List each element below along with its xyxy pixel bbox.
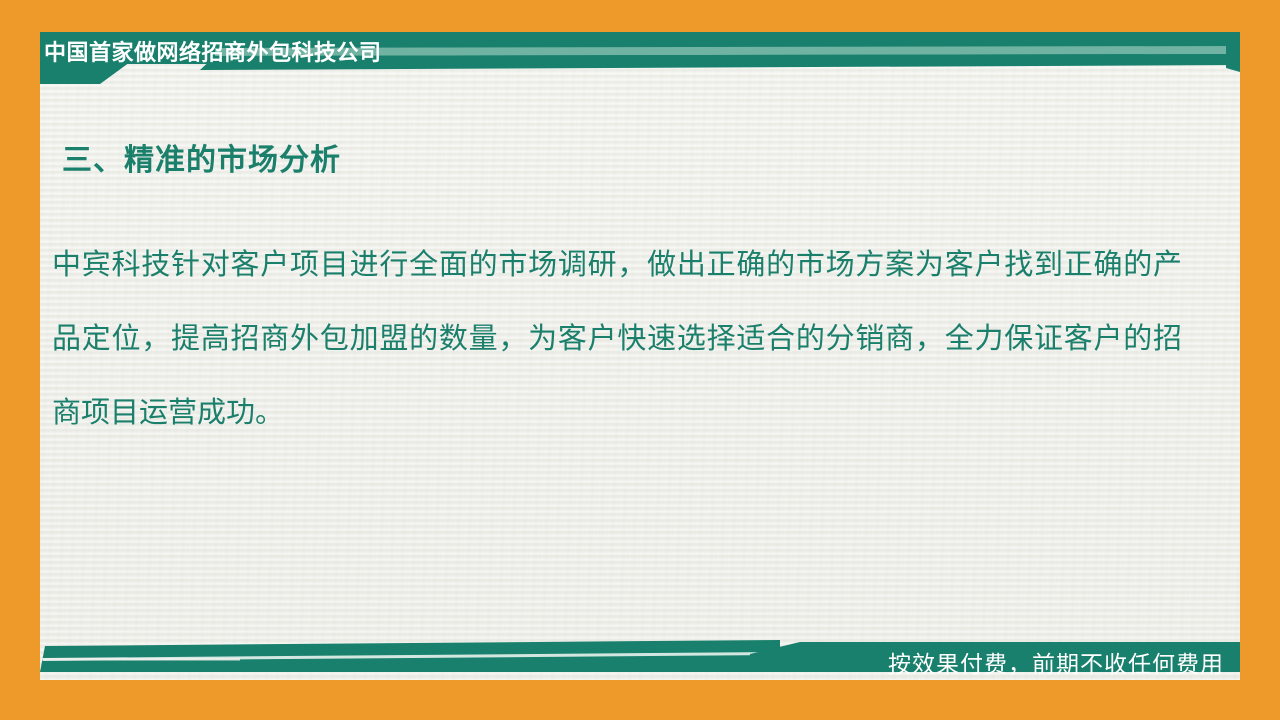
presentation-slide: 中国首家做网络招商外包科技公司 三、精准的市场分析 中宾科技针对客户项目进行全面… [0,0,1280,720]
section-heading: 三、精准的市场分析 [62,135,341,179]
body-paragraph: 中宾科技针对客户项目进行全面的市场调研，做出正确的市场方案为客户找到正确的产品定… [52,228,1182,450]
header-title: 中国首家做网络招商外包科技公司 [44,36,382,70]
footer-tagline: 按效果付费，前期不收任何费用 [888,645,1224,679]
